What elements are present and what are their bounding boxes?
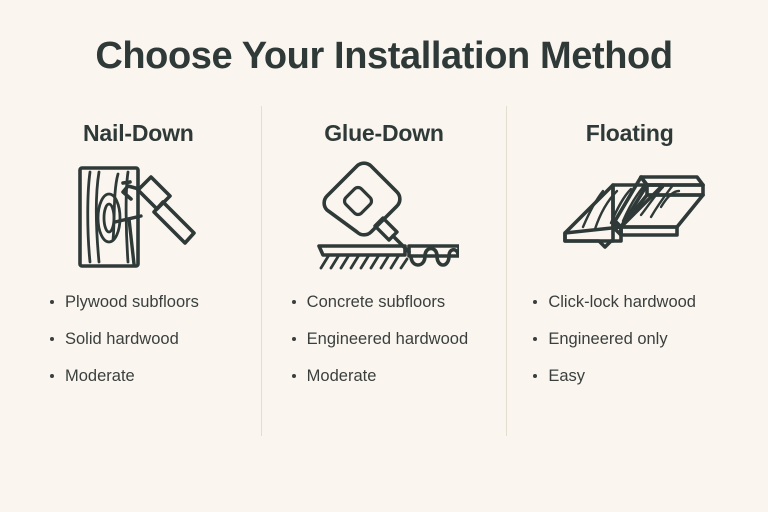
list-item-label: Easy xyxy=(548,367,585,385)
list-item: Plywood subfloors xyxy=(50,292,199,312)
list-item: Concrete subfloors xyxy=(292,292,468,312)
list-item-label: Moderate xyxy=(65,367,135,385)
method-columns: Nail-Down xyxy=(16,106,752,436)
column-heading-floating: Floating xyxy=(586,118,674,148)
bullet-dot-icon xyxy=(292,337,296,341)
feature-list-floating: Click-lock hardwood Engineered only Easy xyxy=(533,292,696,403)
list-item-label: Concrete subfloors xyxy=(307,293,446,311)
bullet-dot-icon xyxy=(50,337,54,341)
list-item-label: Solid hardwood xyxy=(65,330,179,348)
list-item: Moderate xyxy=(50,366,199,386)
list-item-label: Click-lock hardwood xyxy=(548,293,696,311)
bullet-dot-icon xyxy=(50,300,54,304)
bullet-dot-icon xyxy=(292,374,296,378)
method-column-floating: Floating xyxy=(506,106,752,436)
bullet-dot-icon xyxy=(533,374,537,378)
column-heading-glue-down: Glue-Down xyxy=(324,118,444,148)
bullet-dot-icon xyxy=(292,300,296,304)
bullet-dot-icon xyxy=(50,374,54,378)
method-column-nail-down: Nail-Down xyxy=(16,106,261,436)
installation-method-infographic: Choose Your Installation Method Nail-Dow… xyxy=(0,0,768,512)
list-item: Easy xyxy=(533,366,696,386)
list-item: Engineered hardwood xyxy=(292,329,468,349)
list-item: Click-lock hardwood xyxy=(533,292,696,312)
bullet-dot-icon xyxy=(533,300,537,304)
list-item: Moderate xyxy=(292,366,468,386)
list-item-label: Engineered only xyxy=(548,330,667,348)
glue-bottle-trowel-adhesive-icon xyxy=(309,160,459,270)
method-column-glue-down: Glue-Down xyxy=(261,106,507,436)
feature-list-glue-down: Concrete subfloors Engineered hardwood M… xyxy=(292,292,468,403)
list-item-label: Engineered hardwood xyxy=(307,330,468,348)
wood-plank-hammer-nail-icon xyxy=(68,160,208,270)
list-item: Solid hardwood xyxy=(50,329,199,349)
bullet-dot-icon xyxy=(533,337,537,341)
feature-list-nail-down: Plywood subfloors Solid hardwood Moderat… xyxy=(50,292,199,403)
list-item: Engineered only xyxy=(533,329,696,349)
click-lock-planks-icon xyxy=(555,160,705,270)
list-item-label: Plywood subfloors xyxy=(65,293,199,311)
list-item-label: Moderate xyxy=(307,367,377,385)
column-heading-nail-down: Nail-Down xyxy=(83,118,194,148)
page-title: Choose Your Installation Method xyxy=(0,32,768,80)
